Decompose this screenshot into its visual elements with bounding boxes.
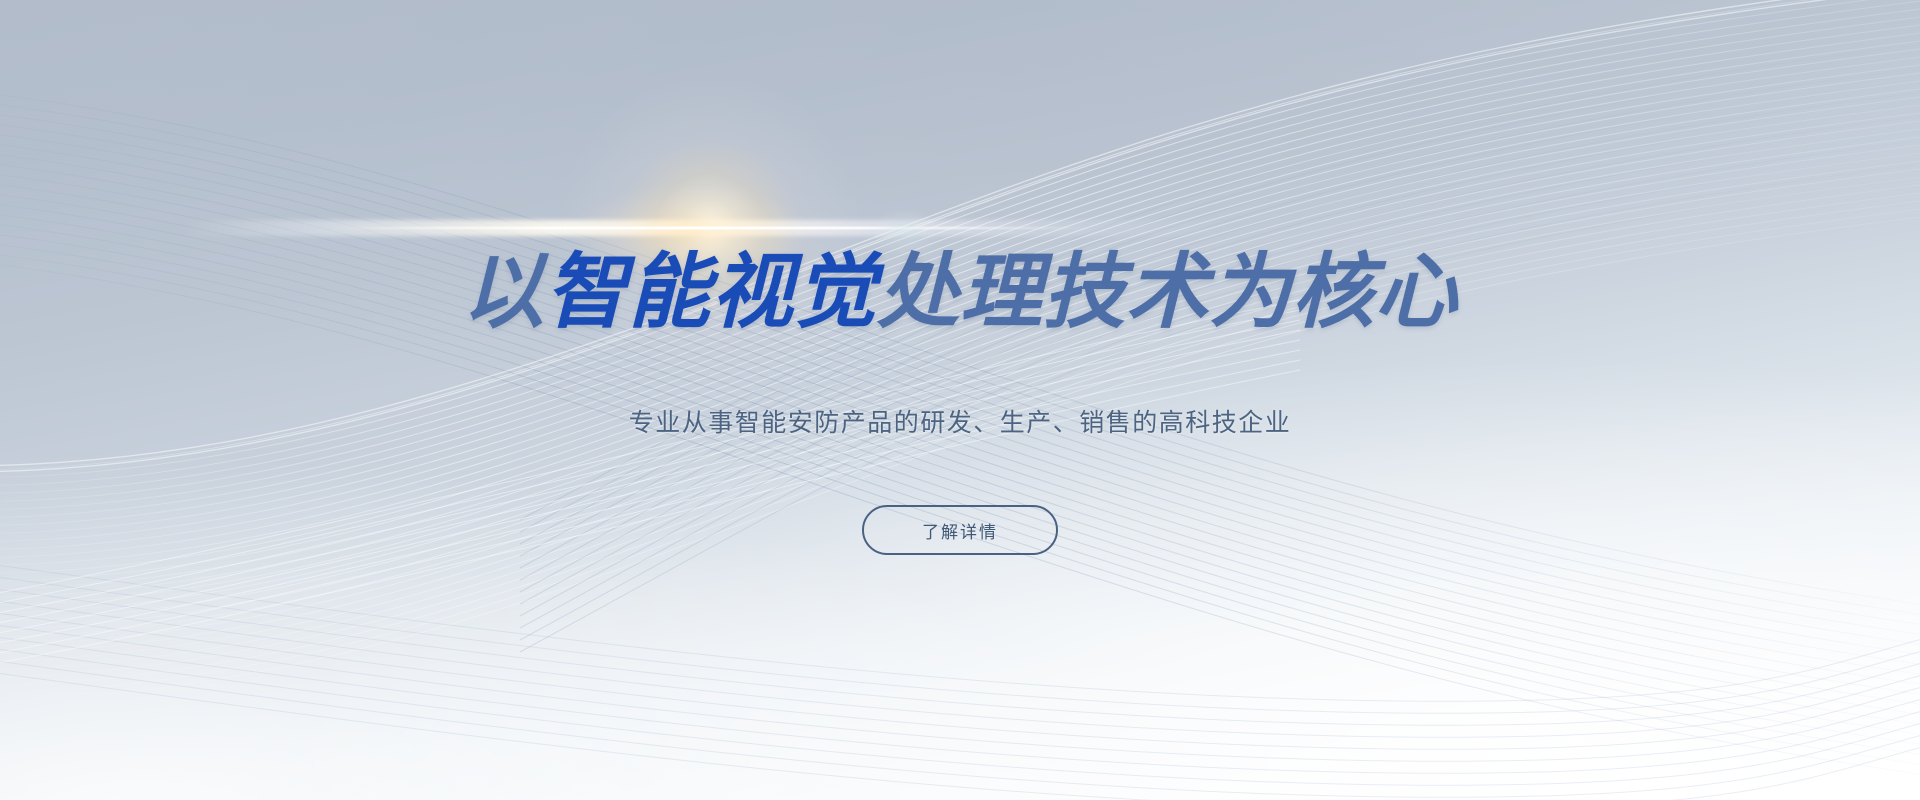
wave-mesh-decoration	[0, 0, 1920, 800]
headline-segment-highlight: 智能视觉	[545, 245, 877, 340]
page-subtitle: 专业从事智能安防产品的研发、生产、销售的高科技企业	[629, 403, 1292, 439]
headline-segment-tail: 处理技术为核心	[877, 245, 1458, 340]
headline-segment-lead: 以	[462, 245, 545, 340]
learn-more-button[interactable]: 了解详情	[862, 505, 1058, 555]
page-title: 以智能视觉处理技术为核心	[462, 252, 1458, 334]
hero-banner: 以智能视觉处理技术为核心 专业从事智能安防产品的研发、生产、销售的高科技企业 了…	[0, 0, 1920, 800]
